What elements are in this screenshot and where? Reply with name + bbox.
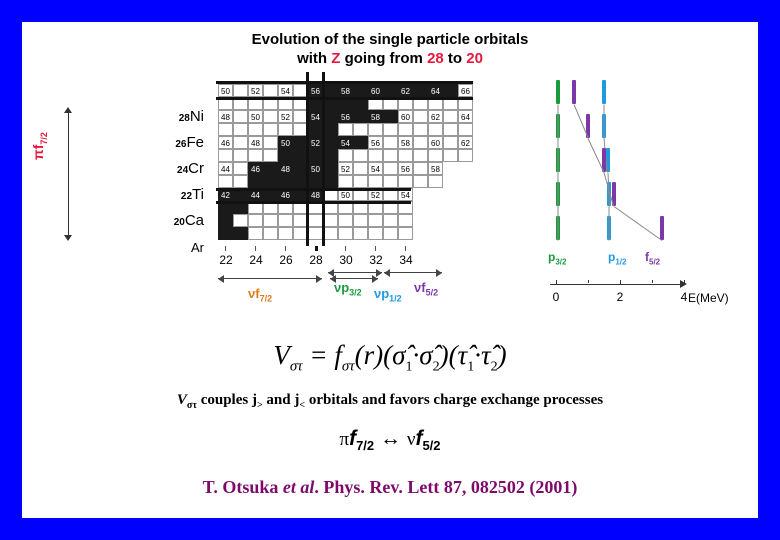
coupling-f1-sub: 7/2 xyxy=(356,438,374,453)
isotope-cell xyxy=(443,136,458,149)
isotope-cell-empty xyxy=(233,123,248,136)
element-z-cr: 24 xyxy=(177,165,188,176)
energy-level-connector xyxy=(558,105,559,139)
energy-level-marker xyxy=(602,80,606,104)
orbital-label-sub: 1/2 xyxy=(389,294,402,304)
neutron-number-label: 34 xyxy=(394,253,418,267)
formula-f: f xyxy=(334,340,342,370)
element-symbol-ni: Ni xyxy=(190,108,204,125)
element-symbol-ar: Ar xyxy=(191,240,204,255)
isotope-cell xyxy=(263,162,278,175)
orbital-label: νf7/2 xyxy=(248,286,272,304)
isotope-cell-empty xyxy=(218,123,233,136)
isotope-cell xyxy=(383,136,398,149)
isotope-cell-empty xyxy=(278,149,293,162)
isotope-cell: 60 xyxy=(428,136,443,149)
isotope-cell xyxy=(368,214,383,227)
isotope-cell-empty xyxy=(308,149,323,162)
isotope-cell xyxy=(383,162,398,175)
neutron-tick xyxy=(285,246,286,251)
element-symbol-ca: Ca xyxy=(185,212,204,229)
isotope-cell xyxy=(353,110,368,123)
neutron-number-label: 32 xyxy=(364,253,388,267)
energy-axis-unit: E(MeV) xyxy=(688,291,729,305)
isotope-cell-empty xyxy=(428,123,443,136)
isotope-cell-empty xyxy=(323,149,338,162)
isotope-cell xyxy=(353,214,368,227)
isotope-cell xyxy=(323,162,338,175)
orbital-span-line xyxy=(330,278,378,279)
element-label-ar: Ar xyxy=(94,240,204,255)
isotope-cell xyxy=(263,110,278,123)
isotope-cell: 50 xyxy=(248,110,263,123)
orbital-coupling-statement: πf7/2 ↔ νf5/2 xyxy=(22,427,758,453)
isotope-cell-empty xyxy=(338,123,353,136)
energy-level-marker xyxy=(556,80,560,104)
title-going-from: going from xyxy=(340,50,427,67)
proton-range-line xyxy=(68,112,69,236)
energy-level-connector xyxy=(558,173,559,207)
isotope-cell: 54 xyxy=(308,110,323,123)
formula-v-sub: στ xyxy=(290,358,303,374)
isotope-cell-empty xyxy=(233,149,248,162)
formula-iso-2: τ̂ xyxy=(481,340,491,370)
caption-text-c: orbitals and favors charge exchange proc… xyxy=(305,392,603,408)
isotope-cell: 46 xyxy=(218,136,233,149)
neutron-number-label: 26 xyxy=(274,253,298,267)
isotope-cell: 54 xyxy=(338,136,353,149)
orbital-span-arrow-left xyxy=(218,275,224,283)
isotope-cell xyxy=(383,110,398,123)
isotope-cell-empty xyxy=(323,175,338,188)
orbital-label-sub: 5/2 xyxy=(426,288,439,298)
isotope-cell-empty xyxy=(353,227,368,240)
element-label-cr: 24Cr xyxy=(94,160,204,177)
isotope-cell: 48 xyxy=(248,136,263,149)
energy-tick-major xyxy=(556,280,557,285)
title-line-1: Evolution of the single particle orbital… xyxy=(22,30,758,49)
isotope-cell-empty xyxy=(323,227,338,240)
title-z-to: 20 xyxy=(466,50,483,67)
neutron-number-label: 30 xyxy=(334,253,358,267)
orbital-span-arrow-right xyxy=(316,275,322,283)
coupling-arrow-icon: ↔ xyxy=(380,427,401,450)
isotope-cell: 48 xyxy=(218,110,233,123)
isotope-cell-empty xyxy=(263,175,278,188)
isotope-cell: 56 xyxy=(338,110,353,123)
element-label-ti: 22Ti xyxy=(94,186,204,203)
isotope-cell-empty xyxy=(413,149,428,162)
isotope-cell-empty xyxy=(368,227,383,240)
energy-level-connector xyxy=(558,139,559,173)
isotope-cell: 62 xyxy=(428,110,443,123)
neutron-tick xyxy=(375,246,376,251)
isotope-cell-empty xyxy=(383,175,398,188)
isotope-cell xyxy=(233,136,248,149)
isotope-cell xyxy=(323,110,338,123)
isotope-cell-empty xyxy=(263,227,278,240)
isotope-cell: 52 xyxy=(248,84,263,97)
magic-line-z20-top xyxy=(216,188,411,191)
isotope-cell xyxy=(323,214,338,227)
legend-f52: f5/2 xyxy=(645,250,660,266)
energy-tick-minor xyxy=(652,280,653,283)
isotope-cell-empty xyxy=(368,175,383,188)
isotope-cell: 66 xyxy=(458,84,473,97)
isotope-cell-empty xyxy=(263,123,278,136)
energy-level-connector xyxy=(558,207,559,241)
element-label-ni: 28Ni xyxy=(94,108,204,125)
orbital-label-sub: 7/2 xyxy=(260,294,273,304)
title-to: to xyxy=(444,50,467,67)
isotope-cell-empty xyxy=(428,149,443,162)
isotope-cell-empty xyxy=(353,123,368,136)
proton-orbital-name: πf xyxy=(30,145,46,160)
isotope-cell xyxy=(323,136,338,149)
isotope-cell-empty xyxy=(248,175,263,188)
slide-title: Evolution of the single particle orbital… xyxy=(22,30,758,68)
isotope-cell xyxy=(413,110,428,123)
legend-p12-sub: 1/2 xyxy=(615,257,626,266)
isotope-cell: 52 xyxy=(278,110,293,123)
isotope-cell-empty xyxy=(323,123,338,136)
isotope-cell xyxy=(233,162,248,175)
isotope-cell xyxy=(383,84,398,97)
nuclear-chart: πf7/2 28Ni 26Fe 24Cr 22Ti 20Ca Ar 505254… xyxy=(22,72,758,332)
energy-tick-minor xyxy=(588,280,589,283)
isotope-cell-empty xyxy=(263,149,278,162)
isotope-cell xyxy=(413,84,428,97)
energy-level-marker xyxy=(660,216,664,240)
energy-axis-line xyxy=(550,284,680,285)
energy-tick-major xyxy=(620,280,621,285)
isotope-cell-empty xyxy=(248,123,263,136)
isotope-cell xyxy=(443,84,458,97)
isotope-cell-empty xyxy=(353,175,368,188)
orbital-label-name: νf xyxy=(414,280,426,295)
caption-text-a: couples j xyxy=(197,392,257,408)
isotope-cell-empty xyxy=(308,123,323,136)
orbital-label-sub: 3/2 xyxy=(349,288,362,298)
isotope-cell: 44 xyxy=(218,162,233,175)
isotope-cell-empty xyxy=(368,123,383,136)
isotope-cell: 48 xyxy=(278,162,293,175)
isotope-cell xyxy=(323,84,338,97)
caption-v: V xyxy=(177,392,187,408)
isotope-cell: 56 xyxy=(368,136,383,149)
tensor-force-formula: Vστ = fστ(r)(σ̂1·σ̂2)(τ̂1·τ̂2) xyxy=(22,340,758,375)
formula-f-sub: στ xyxy=(342,358,355,374)
orbital-label-name: νp xyxy=(334,280,349,295)
element-symbol-ti: Ti xyxy=(192,186,204,203)
title-z-from: 28 xyxy=(427,50,444,67)
energy-level-panel: p3/2 p1/2 f5/2 024 E(MeV) xyxy=(542,72,752,322)
isotope-cell xyxy=(398,214,413,227)
orbital-span-line xyxy=(384,272,442,273)
formula-v: V xyxy=(273,340,290,370)
isotope-cell: 46 xyxy=(248,162,263,175)
isotope-cell-empty xyxy=(278,123,293,136)
isotope-cell xyxy=(353,136,368,149)
orbital-label-name: νf xyxy=(248,286,260,301)
isotope-cell-empty xyxy=(218,227,233,240)
isotope-cell-empty xyxy=(233,175,248,188)
isotope-cell: 58 xyxy=(368,110,383,123)
proton-orbital-sub: 7/2 xyxy=(39,132,49,145)
isotope-cell: 60 xyxy=(368,84,383,97)
isotope-cell-empty xyxy=(458,123,473,136)
element-symbol-cr: Cr xyxy=(188,160,204,177)
isotope-cell-empty xyxy=(338,149,353,162)
title-line-2: with Z going from 28 to 20 xyxy=(22,49,758,68)
isotope-cell-empty xyxy=(218,149,233,162)
energy-tick-major xyxy=(684,280,685,285)
energy-level-connector xyxy=(614,206,663,241)
neutron-number-label: 24 xyxy=(244,253,268,267)
legend-p12: p1/2 xyxy=(608,250,626,266)
citation-author: T. Otsuka xyxy=(203,477,283,497)
proton-orbital-label: πf7/2 xyxy=(30,132,49,160)
isotope-cell-empty xyxy=(338,175,353,188)
legend-p32: p3/2 xyxy=(548,250,566,266)
isotope-cell: 60 xyxy=(398,110,413,123)
isotope-cell: 62 xyxy=(398,84,413,97)
isotope-cell-empty xyxy=(458,149,473,162)
orbital-span-arrow-right xyxy=(436,269,442,277)
isotope-cell-empty xyxy=(398,227,413,240)
isotope-cell: 52 xyxy=(308,136,323,149)
isotope-cell: 58 xyxy=(398,136,413,149)
isotope-cell-empty xyxy=(398,123,413,136)
isotope-cell: 64 xyxy=(428,84,443,97)
isotope-cell-empty xyxy=(368,149,383,162)
coupling-f2-sub: 5/2 xyxy=(422,438,440,453)
citation-reference: . Phys. Rev. Lett 87, 082502 (2001) xyxy=(314,477,577,497)
isotope-cell xyxy=(233,84,248,97)
title-with: with xyxy=(297,50,331,67)
formula-spin-2: σ̂ xyxy=(419,340,432,370)
proton-range-arrow-down xyxy=(64,235,72,241)
isotope-cell-empty xyxy=(338,227,353,240)
neutron-tick xyxy=(225,246,226,251)
proton-range-arrow-up xyxy=(64,107,72,113)
isotope-cell xyxy=(263,214,278,227)
isotope-cell xyxy=(338,214,353,227)
element-z-ti: 22 xyxy=(181,191,192,202)
neutron-tick xyxy=(345,246,346,251)
citation: T. Otsuka et al. Phys. Rev. Lett 87, 082… xyxy=(22,477,758,498)
magic-line-z28-bottom xyxy=(216,97,473,100)
orbital-span-arrow-right xyxy=(372,275,378,283)
isotope-cell xyxy=(353,162,368,175)
isotope-cell-empty xyxy=(278,175,293,188)
isotope-cell: 54 xyxy=(278,84,293,97)
isotope-cell-empty xyxy=(443,149,458,162)
orbital-label-name: νp xyxy=(374,286,389,301)
isotope-cell: 56 xyxy=(398,162,413,175)
isotope-cell xyxy=(443,110,458,123)
isotope-cell xyxy=(263,136,278,149)
isotope-cell-empty xyxy=(308,175,323,188)
orbital-label: νf5/2 xyxy=(414,280,438,298)
formula-iso-open: (τ̂ xyxy=(449,340,468,370)
formula-spin-open: (σ̂ xyxy=(383,340,405,370)
element-z-fe: 26 xyxy=(175,139,186,150)
isotope-cell-empty xyxy=(443,123,458,136)
isotope-cell xyxy=(413,162,428,175)
isotope-cell: 50 xyxy=(218,84,233,97)
isotope-cell: 56 xyxy=(308,84,323,97)
isotope-cell xyxy=(248,214,263,227)
isotope-cell xyxy=(353,84,368,97)
isotope-cell-empty xyxy=(278,227,293,240)
neutron-number-label: 28 xyxy=(304,253,328,267)
isotope-cell-empty xyxy=(413,175,428,188)
energy-tick-label: 2 xyxy=(610,290,630,304)
caption-v-sub: στ xyxy=(187,400,197,411)
isotope-cell: 58 xyxy=(428,162,443,175)
formula-caption: Vστ couples j> and j< orbitals and favor… xyxy=(22,392,758,411)
isotope-cell-empty xyxy=(248,227,263,240)
element-symbol-fe: Fe xyxy=(186,134,204,151)
element-z-ni: 28 xyxy=(179,113,190,124)
isotope-cell-empty xyxy=(398,175,413,188)
legend-f52-sub: 5/2 xyxy=(649,257,660,266)
neutron-tick xyxy=(315,246,318,251)
energy-level-marker xyxy=(572,80,576,104)
isotope-cell xyxy=(233,110,248,123)
orbital-span-arrow-left xyxy=(330,275,336,283)
isotope-cell-empty xyxy=(218,175,233,188)
isotope-cell-empty xyxy=(308,227,323,240)
isotope-cell: 52 xyxy=(338,162,353,175)
isotope-cell xyxy=(263,84,278,97)
isotope-cell xyxy=(383,214,398,227)
citation-etal: et al xyxy=(283,477,315,497)
neutron-tick xyxy=(405,246,406,251)
legend-p32-sub: 3/2 xyxy=(555,257,566,266)
isotope-cell-empty xyxy=(383,227,398,240)
isotope-cell: 58 xyxy=(338,84,353,97)
isotope-cell xyxy=(308,214,323,227)
isotope-cell-empty xyxy=(398,149,413,162)
coupling-pi: π xyxy=(339,429,349,450)
isotope-cell: 50 xyxy=(278,136,293,149)
isotope-cell: 50 xyxy=(308,162,323,175)
magic-line-z20-bottom xyxy=(216,201,411,204)
isotope-cell-empty xyxy=(383,149,398,162)
orbital-span-line xyxy=(328,272,382,273)
isotope-cell-empty xyxy=(353,149,368,162)
orbital-label: νp1/2 xyxy=(374,286,402,304)
formula-equals: = xyxy=(309,340,327,370)
slide-canvas: Evolution of the single particle orbital… xyxy=(22,22,758,518)
isotope-cell xyxy=(233,214,248,227)
formula-spin-2-sub: 2 xyxy=(433,359,440,374)
magic-line-z28-top xyxy=(216,81,473,84)
isotope-cell-empty xyxy=(428,175,443,188)
element-z-ca: 20 xyxy=(174,217,185,228)
isotope-cell: 64 xyxy=(458,110,473,123)
caption-text-b: and j xyxy=(263,392,300,408)
orbital-label: νp3/2 xyxy=(334,280,362,298)
isotope-cell-empty xyxy=(248,149,263,162)
isotope-cell-empty xyxy=(413,123,428,136)
isotope-cell: 62 xyxy=(458,136,473,149)
isotope-cell-empty xyxy=(383,123,398,136)
formula-r: (r) xyxy=(355,340,384,370)
isotope-cell xyxy=(413,136,428,149)
element-label-fe: 26Fe xyxy=(94,134,204,151)
element-label-ca: 20Ca xyxy=(94,212,204,229)
orbital-span-arrow-left xyxy=(384,269,390,277)
energy-tick-label: 0 xyxy=(546,290,566,304)
isotope-cell: 54 xyxy=(368,162,383,175)
isotope-cell xyxy=(218,214,233,227)
neutron-number-label: 22 xyxy=(214,253,238,267)
formula-dot-2: · xyxy=(474,340,481,370)
isotope-cell-empty xyxy=(233,227,248,240)
isotope-cell xyxy=(278,214,293,227)
neutron-tick xyxy=(255,246,256,251)
orbital-span-line xyxy=(218,278,322,279)
formula-close-1: ) xyxy=(440,340,449,370)
formula-iso-2-sub: 2 xyxy=(491,359,498,374)
formula-close-2: ) xyxy=(498,340,507,370)
